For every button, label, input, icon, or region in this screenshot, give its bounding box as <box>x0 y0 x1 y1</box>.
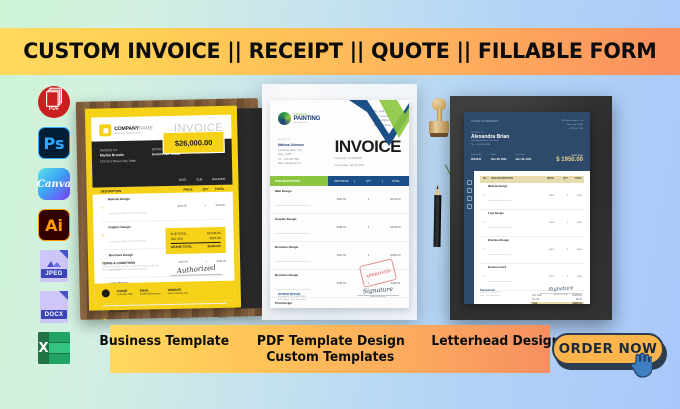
right-row-price: $150 <box>542 222 556 224</box>
left-invoice-mockup: COMPANYNAME Business Tagline Here INVOIC… <box>76 98 263 320</box>
yellow-invoice-frame: COMPANYNAME Business Tagline Here INVOIC… <box>85 106 241 311</box>
left-footer-phone-value: +123 456 7890 <box>117 293 133 296</box>
excel-icon-label: X <box>38 332 49 364</box>
left-mini-balance: BALANCE <box>212 177 225 181</box>
center-bill-to-label: INVOICE TO : <box>278 139 292 141</box>
right-invoice-paper: YOUR COMPANY 123 Street Name, City State… <box>464 112 590 304</box>
right-sum-label: Tax 0% <box>532 299 540 301</box>
center-invoice-logo: Creative PAINTING your tagline here <box>278 108 320 128</box>
right-row-number: 02 <box>480 222 488 224</box>
right-invoice-mockup: YOUR COMPANY 123 Street Name, City State… <box>450 96 612 320</box>
photoshop-icon-label: Ps <box>44 134 65 153</box>
center-row-qty: 4 <box>355 254 382 257</box>
center-logo-orb-icon <box>278 112 291 125</box>
right-invoice-signature: Signature Authorized Sign <box>540 286 582 296</box>
left-company-tagline: Business Tagline Here <box>114 131 153 135</box>
table-row: 01 Website DesignLorem ipsum dolor sit a… <box>101 192 226 223</box>
canva-icon-label: Canva <box>37 179 71 190</box>
left-invoice-signature: Authorized <box>170 265 222 276</box>
center-th-numeric-cells: UNIT PRICE QTY TOTAL <box>328 176 409 186</box>
table-row: Graphic DesignLorem ipsum dolor sit amet… <box>270 214 409 242</box>
canva-icon: Canva <box>38 168 70 200</box>
right-row-qty: 4 <box>556 276 570 278</box>
order-now-area[interactable]: ORDER NOW <box>552 333 670 373</box>
right-note-body: Account No : 0123 4567 Bank : Your Bank … <box>480 292 538 298</box>
center-invoice-mockup: Creative PAINTING your tagline here Tel … <box>262 84 417 320</box>
left-row-number: 02 <box>102 234 106 237</box>
right-row-qty: 2 <box>556 195 570 197</box>
left-footer-email: EMAILinfo@company.com <box>140 288 161 297</box>
table-row: 01 Website DesignLorem ipsum dolor sit a… <box>480 183 584 210</box>
center-row-unit: $450.00 <box>328 198 355 201</box>
docx-icon: DOCX <box>38 291 70 323</box>
left-tax-label: TAX 10% <box>171 237 184 243</box>
right-payment-info: Payment Info Account No : 0123 4567 Bank… <box>480 289 538 298</box>
photoshop-icon: Ps <box>38 127 70 159</box>
format-icon-rail: 🗍 PDF Ps Canva Ai JPEG DO <box>38 86 70 364</box>
center-row-item: Brochure Design <box>275 273 328 277</box>
right-row-price: $350 <box>542 195 556 197</box>
services-row: Business Template PDF Template Design Le… <box>96 334 564 349</box>
right-row-desc: Lorem ipsum dolor sit amet <box>488 254 511 256</box>
center-th-description-cell: ITEM DESCRIPTION <box>270 176 328 186</box>
center-th-description: ITEM DESCRIPTION <box>275 180 300 183</box>
right-row-item: Logo Design <box>488 212 542 215</box>
right-row-total: $700 <box>570 195 584 197</box>
center-row-item: Graphic Design <box>275 217 328 221</box>
right-th-qty: QTY <box>556 178 570 180</box>
services-banner: Business Template PDF Template Design Le… <box>110 325 550 373</box>
service-custom-templates: Custom Templates <box>266 350 394 365</box>
center-row-item: Web Design <box>275 189 328 193</box>
left-invoice-bill-to: INVOICE TO Marlon Brando 123 Your Street… <box>100 148 137 181</box>
left-bill-to-address: 123 Your Street, City, State <box>100 159 136 164</box>
right-table-header: NO ITEM DESCRIPTION PRICE QTY TOTAL <box>480 176 584 183</box>
left-logo-mark-icon <box>99 124 111 136</box>
center-row-desc: Lorem ipsum dolor sit amet, consectetur <box>275 289 311 291</box>
service-letterhead-design: Letterhead Design <box>432 334 561 349</box>
left-mini-date: DATE <box>179 178 186 182</box>
center-row-desc: Lorem ipsum dolor sit amet, consectetur <box>275 205 311 207</box>
right-row-qty: 1 <box>556 222 570 224</box>
right-th-total: TOTAL <box>570 178 584 180</box>
right-meta-value: Nov 28, 2021 <box>516 158 532 163</box>
left-row-qty: 1 <box>191 260 207 263</box>
table-row: Web DesignLorem ipsum dolor sit amet, co… <box>270 186 409 214</box>
left-th-qty: QTY <box>193 187 209 191</box>
left-row-item: Graphic Design <box>108 224 168 229</box>
pdf-icon: 🗍 PDF <box>38 86 70 118</box>
center-row-qty: 6 <box>355 198 382 201</box>
right-row-item: Brochure Design <box>488 239 542 242</box>
left-th-total: TOTAL <box>209 186 225 190</box>
illustrator-icon: Ai <box>38 209 70 241</box>
right-meta-label: Invoice No. <box>471 154 482 156</box>
pdf-swoosh-glyph: 🗍 <box>46 93 63 106</box>
right-row-item: Business Card <box>488 266 542 269</box>
right-row-desc: Lorem ipsum dolor sit amet <box>488 281 511 283</box>
center-row-total: $1155.00 <box>382 226 409 229</box>
left-row-item: Brochure Design <box>109 252 169 257</box>
center-row-unit: $420.00 <box>328 254 355 257</box>
jpeg-icon-fold <box>59 250 68 259</box>
right-th-price: PRICE <box>542 178 556 180</box>
left-invoice-paper: COMPANYNAME Business Tagline Here INVOIC… <box>91 115 235 304</box>
cursor-hand-icon <box>630 352 652 378</box>
left-grand-value: $2,464.00 <box>207 244 220 250</box>
right-sum-value: $0.00 <box>576 299 582 301</box>
center-row-desc: Lorem ipsum dolor sit amet, consectetur <box>275 233 311 235</box>
right-row-total: $150 <box>570 222 584 224</box>
left-row-item: Print Design <box>110 307 170 312</box>
left-grand-label: GRAND TOTAL <box>171 244 193 250</box>
left-row-price: $190.00 <box>173 317 189 320</box>
table-row: 03 Brochure DesignLorem ipsum dolor sit … <box>480 237 584 264</box>
right-th-no: NO <box>480 178 488 180</box>
center-th-total: TOTAL <box>382 180 409 183</box>
left-invoice-amount: $26,000.00 <box>162 131 224 154</box>
service-pdf-template-design: PDF Template Design <box>256 334 404 349</box>
center-invoice-signature: Signature Authorized Sign <box>357 287 399 298</box>
right-row-price: $200 <box>542 249 556 251</box>
left-row-number: 05 <box>103 318 107 321</box>
left-invoice-dark-band: INVOICE TO Marlon Brando 123 Your Street… <box>92 139 233 188</box>
docx-icon-fold <box>59 291 68 300</box>
center-signature-name: Authorized Sign <box>357 296 399 298</box>
left-th-price: PRICE <box>177 187 193 191</box>
right-client-address: 123 Street Name, City, State Tel : +123 … <box>471 140 583 148</box>
center-payment-body: Account No : 0123 4567 8901 Bank Name : … <box>278 296 307 302</box>
center-row-item: Brochure Design <box>275 245 328 249</box>
center-th-qty: QTY <box>354 180 381 183</box>
center-row-unit: $195.00 <box>328 282 355 285</box>
excel-icon: X <box>38 332 70 364</box>
center-row-unit: $385.00 <box>328 226 355 229</box>
left-row-qty: 2 <box>192 316 208 319</box>
center-table-header: ITEM DESCRIPTION UNIT PRICE QTY TOTAL <box>270 176 409 186</box>
right-side-rail <box>464 171 474 304</box>
left-row-item: Website Design <box>108 196 168 201</box>
right-th-description: ITEM DESCRIPTION <box>488 178 542 180</box>
center-row-desc: Lorem ipsum dolor sit amet, consectetur <box>275 261 311 263</box>
left-footer-phone: PHONE+123 456 7890 <box>117 289 133 297</box>
right-row-number: 01 <box>480 195 488 197</box>
right-invoice-body: NO ITEM DESCRIPTION PRICE QTY TOTAL 01 W… <box>464 171 590 304</box>
center-row-total: $2700.00 <box>382 198 409 201</box>
right-sum-value: $1950.00 <box>572 303 582 304</box>
left-row-desc: Lorem ipsum dolor sit amet consectetur <box>108 212 146 215</box>
right-row-price: $125 <box>542 276 556 278</box>
right-total-due-value: $ 1950.00 <box>556 157 583 163</box>
left-row-total: $380.00 <box>211 316 227 319</box>
headline-banner: CUSTOM INVOICE || RECEIPT || QUOTE || FI… <box>0 28 680 75</box>
jpeg-icon-image-glyph <box>46 259 62 267</box>
left-footer-badge-icon <box>102 289 110 297</box>
left-footer-web: WEBSITEwww.company.com <box>168 288 189 297</box>
right-row-desc: Lorem ipsum dolor sit amet <box>488 227 511 229</box>
excel-icon-grid <box>49 332 70 364</box>
left-terms-body: Lorem ipsum dolor sit amet, consectetur … <box>102 265 160 273</box>
left-row-desc: Lorem ipsum dolor sit amet consectetur <box>109 240 147 243</box>
pencil-icon <box>433 185 441 247</box>
left-mini-due: DUE <box>196 177 202 181</box>
right-row-item: Website Design <box>488 185 542 188</box>
left-invoice-terms: TERMS & CONDITIONS Lorem ipsum dolor sit… <box>102 260 160 273</box>
right-row-desc: Lorem ipsum dolor sit amet <box>488 200 511 202</box>
left-company-name-light: NAME <box>139 125 153 131</box>
center-logo-sub: your tagline here <box>294 122 321 124</box>
center-payment-method: PAYMENT METHOD Account No : 0123 4567 89… <box>278 293 307 302</box>
right-meta-label: Date <box>491 154 496 156</box>
left-row-total: $500.00 <box>209 204 225 207</box>
center-invoice-paper: Creative PAINTING your tagline here Tel … <box>270 100 409 308</box>
left-bill-to-label: INVOICE TO <box>100 148 117 152</box>
left-company-name-bold: COMPANY <box>114 125 139 132</box>
center-invoice-date: Invoice Date : Nov 08, 2021 <box>335 164 401 169</box>
left-tax-value: $224.00 <box>210 236 221 242</box>
jpeg-icon: JPEG <box>38 250 70 282</box>
left-invoice-footer: PHONE+123 456 7890 EMAILinfo@company.com… <box>95 281 235 304</box>
right-row-total: $500 <box>570 276 584 278</box>
left-row-qty: 2 <box>190 204 206 207</box>
right-row-qty: 3 <box>556 249 570 251</box>
illustrator-icon-label: Ai <box>45 216 63 235</box>
left-row-price: $250.00 <box>171 205 187 208</box>
left-footer-email-value: info@company.com <box>140 293 161 296</box>
center-th-unit-price: UNIT PRICE <box>328 180 354 183</box>
right-total-due: Total Due $ 1950.00 <box>556 153 583 163</box>
rubber-stamp-icon <box>428 98 450 142</box>
left-row-price: $220.00 <box>172 261 188 264</box>
right-sum-label: Total <box>532 303 537 304</box>
right-row-total: $600 <box>570 249 584 251</box>
thumbnail-canvas: CUSTOM INVOICE || RECEIPT || QUOTE || FI… <box>0 0 680 409</box>
docx-icon-label: DOCX <box>41 310 67 319</box>
pdf-icon-label: PDF <box>49 106 60 112</box>
center-row-total: $1680.00 <box>382 254 409 257</box>
left-footer-web-value: www.company.com <box>168 292 188 295</box>
center-bill-to: INVOICE TO : Melissa Johnson 123 Street … <box>278 138 304 168</box>
right-meta-label: Due Date <box>516 154 525 156</box>
table-row: 02 Logo DesignLorem ipsum dolor sit amet… <box>480 210 584 237</box>
left-company-name: COMPANYNAME <box>114 125 153 132</box>
left-invoice-totals: SUB TOTAL$2,240.00 TAX 10%$224.00 GRAND … <box>165 227 226 254</box>
left-invoice-mini-meta: DATE DUE BALANCE <box>179 177 225 182</box>
right-signature-name: Authorized Sign <box>540 294 582 296</box>
center-bill-to-address: 123 Street Name, City State, 12345 Tel :… <box>278 149 302 165</box>
left-invoice-logo: COMPANYNAME Business Tagline Here <box>99 123 153 136</box>
jpeg-icon-label: JPEG <box>41 269 67 278</box>
service-business-template: Business Template <box>99 334 229 349</box>
center-invoice-number: Invoice No. : 0123456789 <box>335 157 401 162</box>
center-row-qty: 3 <box>355 226 382 229</box>
right-meta-value: 0012345 <box>471 158 482 163</box>
left-row-number: 01 <box>101 206 105 209</box>
right-client-block: INVOICE TO Alexandra Brian 123 Street Na… <box>471 132 583 148</box>
center-chevron-decoration <box>349 100 409 146</box>
right-row-number: 03 <box>480 249 488 251</box>
right-company-address: 123 Street Name, City State, Zip 12345 +… <box>561 119 583 132</box>
right-invoice-header: YOUR COMPANY 123 Street Name, City State… <box>464 112 590 171</box>
right-row-number: 04 <box>480 276 488 278</box>
headline-text: CUSTOM INVOICE || RECEIPT || QUOTE || FI… <box>23 39 656 64</box>
right-meta-value: Nov 08, 2021 <box>491 158 507 163</box>
